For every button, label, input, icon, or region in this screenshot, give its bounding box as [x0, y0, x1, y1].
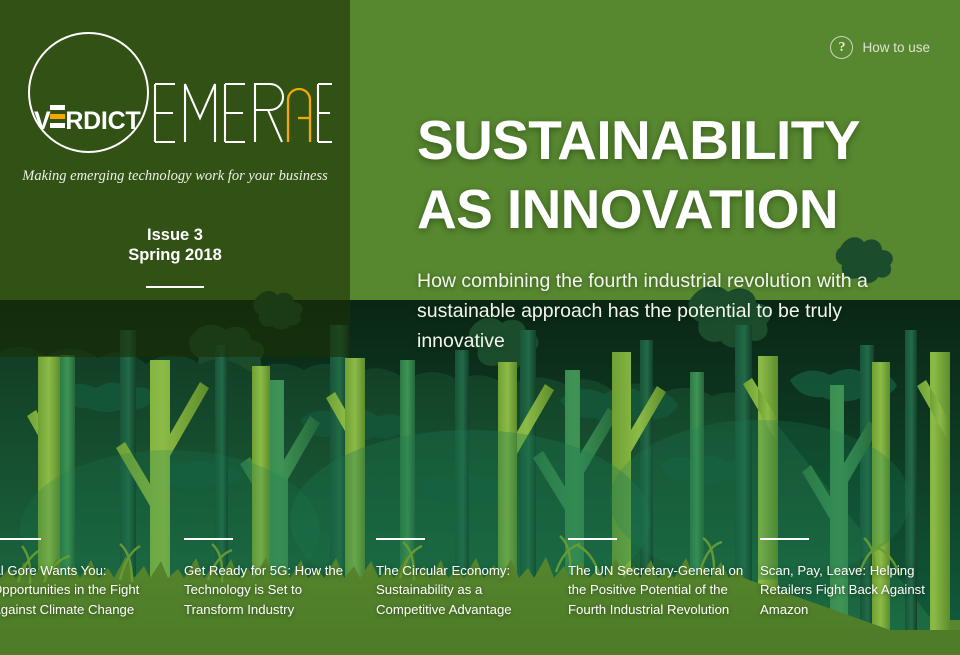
- verdict-letter-t: T: [125, 109, 140, 134]
- issue-season: Spring 2018: [0, 245, 350, 265]
- hero-section: SUSTAINABILITY AS INNOVATION How combini…: [417, 106, 947, 356]
- hero-subtitle: How combining the fourth industrial revo…: [417, 266, 922, 356]
- verdict-letter-r: R: [65, 109, 83, 134]
- issue-info: Issue 3 Spring 2018: [0, 225, 350, 288]
- article-rule: [760, 538, 809, 540]
- how-to-use-label: How to use: [862, 40, 930, 55]
- article-card[interactable]: The Circular Economy: Sustainability as …: [376, 525, 568, 655]
- article-rule: [376, 538, 425, 540]
- verdict-letter-v: V: [34, 109, 50, 134]
- article-card[interactable]: Get Ready for 5G: How the Technology is …: [184, 525, 376, 655]
- article-title: Get Ready for 5G: How the Technology is …: [184, 561, 362, 619]
- verdict-letter-d: D: [83, 109, 101, 134]
- page-title-line-2: AS INNOVATION: [417, 175, 947, 244]
- emerge-wordmark: [152, 78, 332, 148]
- article-title: The UN Secretary-General on the Positive…: [568, 561, 746, 619]
- cover-sidebar-panel: V R D I C T: [0, 0, 350, 357]
- article-title: Scan, Pay, Leave: Helping Retailers Figh…: [760, 561, 938, 619]
- article-card[interactable]: Al Gore Wants You: Opportunities in the …: [0, 525, 184, 655]
- article-title: Al Gore Wants You: Opportunities in the …: [0, 561, 170, 619]
- article-teaser-strip: Al Gore Wants You: Opportunities in the …: [0, 525, 960, 655]
- page-title: SUSTAINABILITY AS INNOVATION: [417, 106, 947, 244]
- magazine-cover: V R D I C T: [0, 0, 960, 655]
- article-card[interactable]: The UN Secretary-General on the Positive…: [568, 525, 760, 655]
- article-card[interactable]: Scan, Pay, Leave: Helping Retailers Figh…: [760, 525, 952, 655]
- how-to-use-button[interactable]: ? How to use: [830, 36, 930, 59]
- article-rule: [568, 538, 617, 540]
- article-rule: [184, 538, 233, 540]
- page-title-line-1: SUSTAINABILITY: [417, 106, 947, 175]
- verdict-letter-e-accent: [50, 104, 65, 129]
- verdict-letter-i: I: [101, 109, 108, 134]
- issue-number: Issue 3: [0, 225, 350, 245]
- verdict-wordmark: V R D I C T: [34, 104, 140, 134]
- brand-logo[interactable]: V R D I C T: [0, 22, 350, 172]
- verdict-letter-c: C: [108, 109, 126, 134]
- issue-divider: [146, 286, 204, 288]
- question-mark-circle-icon: ?: [830, 36, 853, 59]
- article-rule: [0, 538, 41, 540]
- article-title: The Circular Economy: Sustainability as …: [376, 561, 554, 619]
